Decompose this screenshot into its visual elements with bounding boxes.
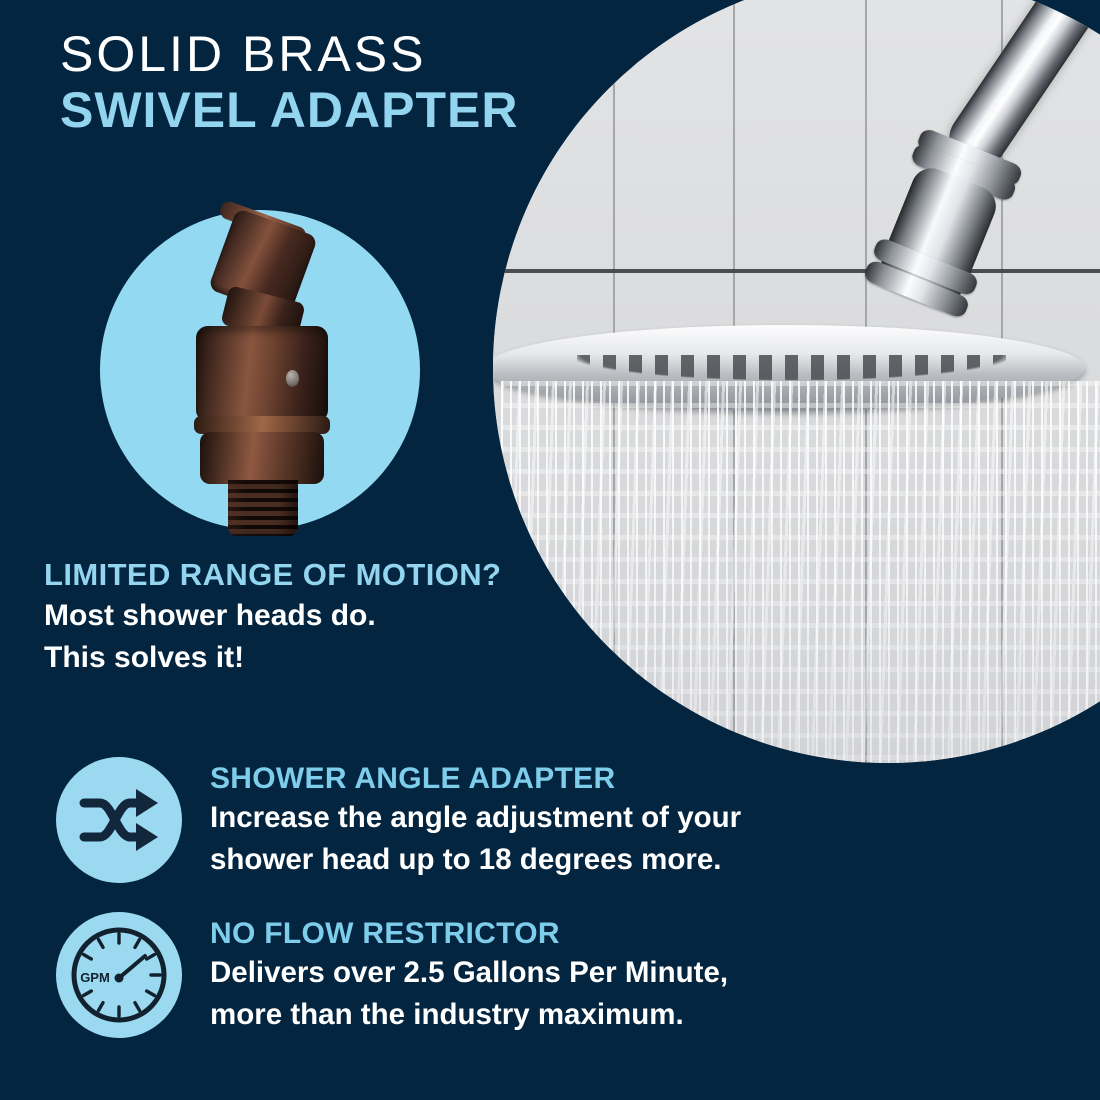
callout-line-1: Most shower heads do. <box>44 597 564 635</box>
feature-title: NO FLOW RESTRICTOR <box>210 916 728 951</box>
adapter-set-screw <box>286 370 299 387</box>
gpm-icon-label: GPM <box>80 970 110 985</box>
feature-desc-line-2: shower head up to 18 degrees more. <box>210 841 741 879</box>
shuffle-icon <box>56 757 182 883</box>
feature-title: SHOWER ANGLE ADAPTER <box>210 761 741 796</box>
gpm-gauge-icon: GPM <box>56 912 182 1038</box>
adapter-collar <box>200 432 324 484</box>
hero-product-photo <box>493 0 1100 763</box>
title-line-2: SWIVEL ADAPTER <box>60 82 518 138</box>
page-title: SOLID BRASS SWIVEL ADAPTER <box>60 26 518 138</box>
feature-row-shower-angle-adapter: SHOWER ANGLE ADAPTER Increase the angle … <box>56 757 741 883</box>
feature-text: SHOWER ANGLE ADAPTER Increase the angle … <box>210 757 741 879</box>
adapter-threads <box>228 480 298 536</box>
grout-line-horizontal <box>493 269 1100 273</box>
title-line-1: SOLID BRASS <box>60 26 518 82</box>
feature-row-no-flow-restrictor: GPM NO FLOW RESTRICTOR Delivers over 2.5… <box>56 912 728 1038</box>
adapter-hex-body <box>196 326 328 422</box>
callout-line-2: This solves it! <box>44 639 564 677</box>
feature-desc-line-1: Increase the angle adjustment of your <box>210 799 741 837</box>
water-droplets <box>501 381 1100 763</box>
feature-text: NO FLOW RESTRICTOR Delivers over 2.5 Gal… <box>210 912 728 1034</box>
callout-heading: LIMITED RANGE OF MOTION? <box>44 556 564 593</box>
feature-desc-line-2: more than the industry maximum. <box>210 996 728 1034</box>
callout-block: LIMITED RANGE OF MOTION? Most shower hea… <box>44 556 564 677</box>
product-swivel-adapter-image <box>168 220 358 520</box>
feature-desc-line-1: Delivers over 2.5 Gallons Per Minute, <box>210 954 728 992</box>
